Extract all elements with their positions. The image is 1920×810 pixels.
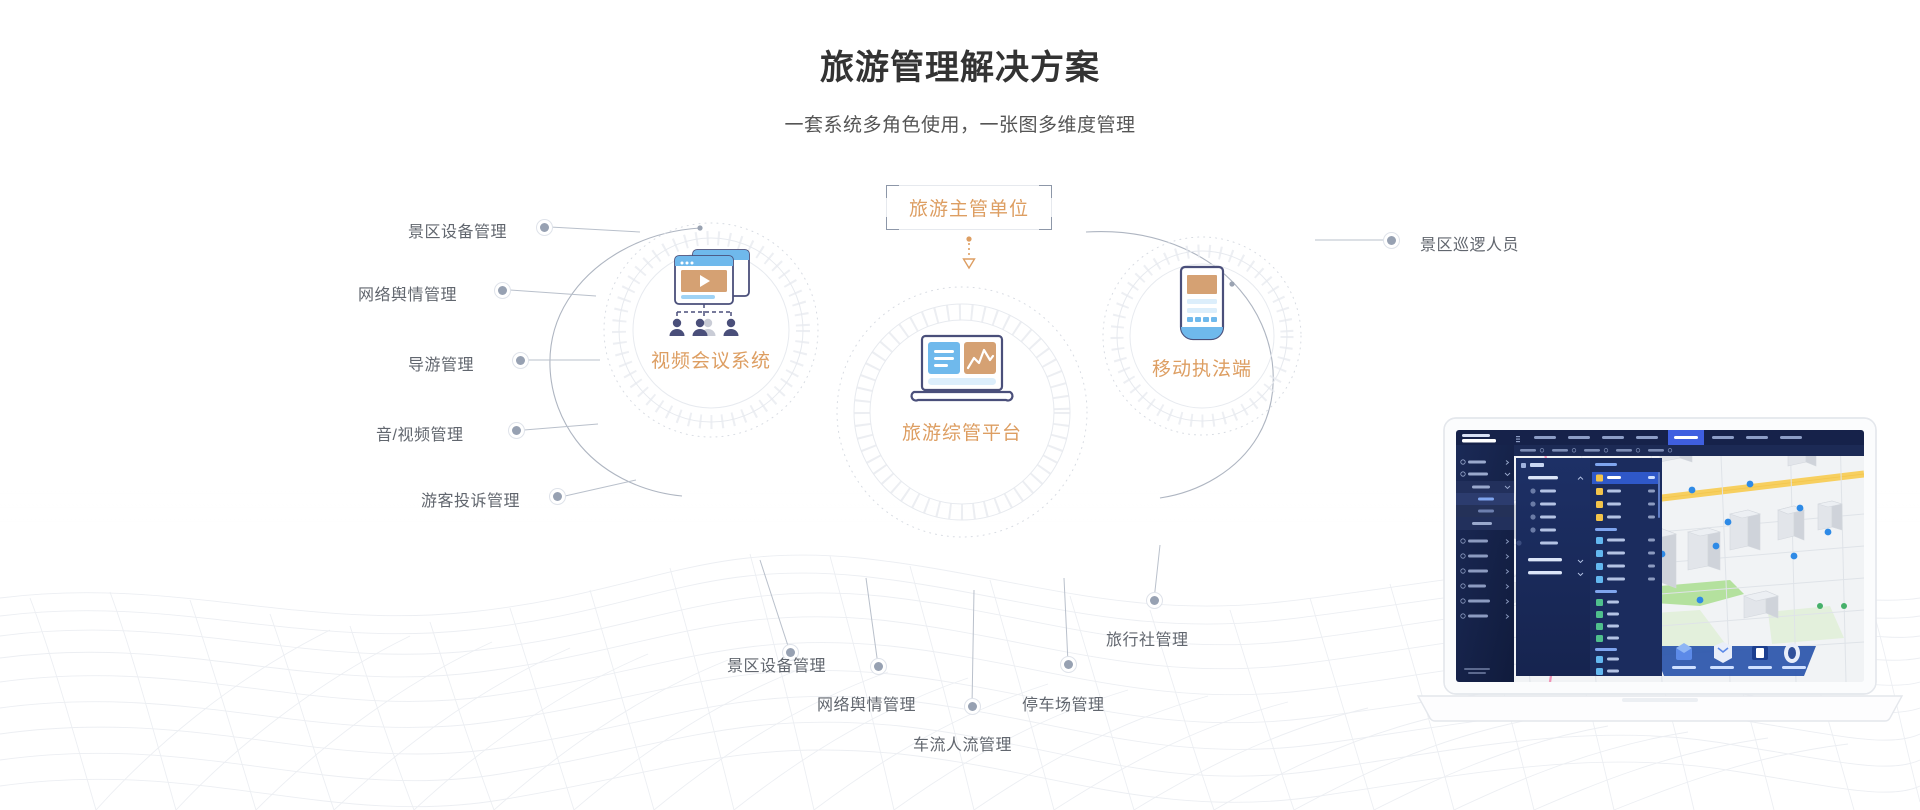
corner-bracket-bottom-left: [886, 217, 899, 230]
bottom-pin-3: [1060, 656, 1077, 673]
bottom-pin-1: [870, 658, 887, 675]
left-pin-0: [536, 219, 553, 236]
bottom-label-1: 网络舆情管理: [817, 691, 916, 715]
page-subtitle: 一套系统多角色使用，一张图多维度管理: [0, 110, 1920, 137]
node-video-conference: 视频会议系统: [603, 222, 819, 438]
right-label-0: 景区巡逻人员: [1420, 231, 1519, 255]
left-label-4: 游客投诉管理: [421, 487, 520, 511]
laptop-device: [1400, 410, 1920, 740]
node-tourism-platform: 旅游综管平台: [836, 286, 1088, 538]
ring-decoration: [836, 286, 1088, 538]
corner-bracket-bottom-right: [1039, 217, 1052, 230]
laptop-mockup: [1400, 410, 1920, 740]
node-mobile-enforcement: 移动执法端: [1102, 236, 1302, 436]
bottom-label-3: 停车场管理: [1022, 691, 1105, 715]
bottom-label-4: 旅行社管理: [1106, 626, 1189, 650]
dotted-down-arrow-icon: [958, 236, 980, 270]
authority-label: 旅游主管单位: [909, 194, 1029, 221]
page-title: 旅游管理解决方案: [0, 40, 1920, 89]
video-window-icon: [603, 244, 819, 338]
bottom-label-2: 车流人流管理: [913, 731, 1012, 755]
authority-box: 旅游主管单位: [886, 185, 1052, 230]
node-label-video-conference: 视频会议系统: [603, 346, 819, 373]
node-label-tourism-platform: 旅游综管平台: [836, 418, 1088, 445]
node-label-mobile-enforcement: 移动执法端: [1102, 354, 1302, 381]
left-label-3: 音/视频管理: [376, 421, 463, 445]
left-pin-2: [512, 352, 529, 369]
right-pin-0: [1383, 232, 1400, 249]
corner-bracket-top-left: [886, 185, 899, 198]
left-label-1: 网络舆情管理: [358, 281, 457, 305]
handheld-terminal-icon: [1102, 266, 1302, 348]
left-label-0: 景区设备管理: [408, 218, 507, 242]
left-pin-1: [494, 282, 511, 299]
left-pin-4: [549, 488, 566, 505]
laptop-dashboard-icon: [836, 332, 1088, 408]
bottom-pin-2: [964, 698, 981, 715]
left-label-2: 导游管理: [408, 351, 474, 375]
bottom-pin-4: [1146, 592, 1163, 609]
bottom-label-0: 景区设备管理: [727, 652, 826, 676]
corner-bracket-top-right: [1039, 185, 1052, 198]
solution-diagram-page: 旅游管理解决方案 一套系统多角色使用，一张图多维度管理 旅游主管单位: [0, 0, 1920, 810]
left-pin-3: [508, 422, 525, 439]
